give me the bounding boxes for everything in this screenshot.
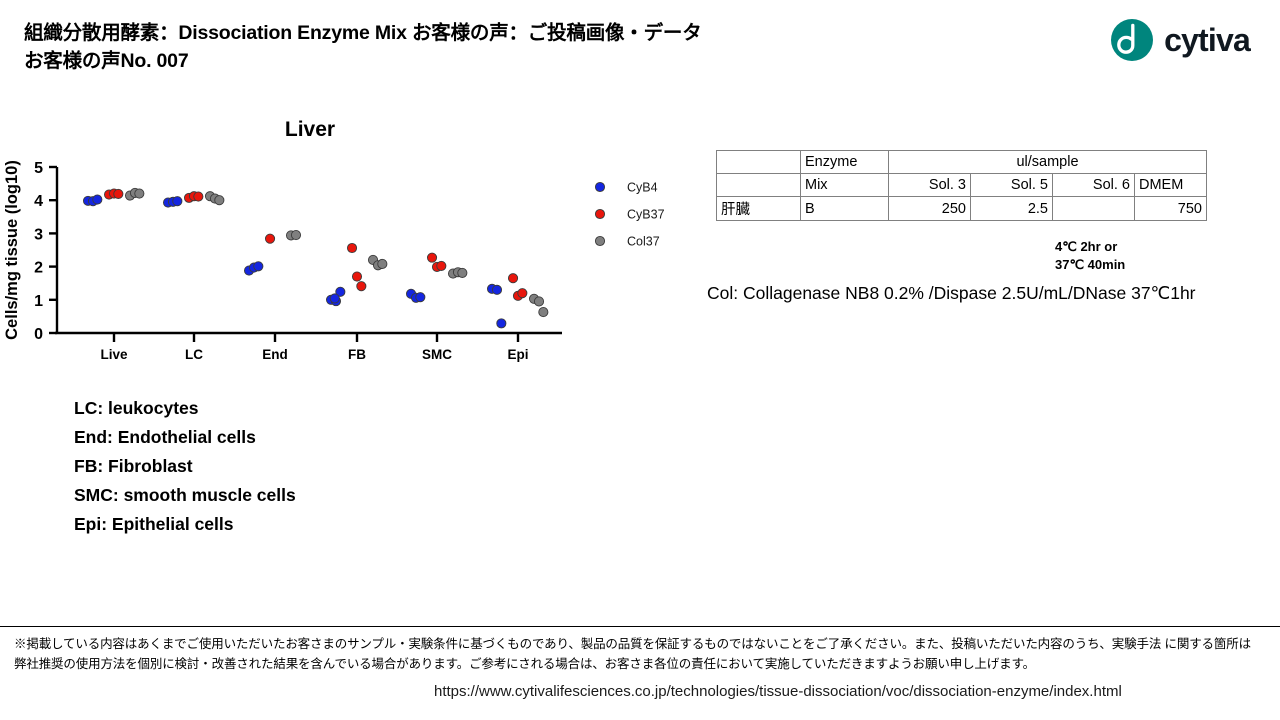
y-axis-title: Cells/mg tissue (log10) xyxy=(3,160,21,340)
data-point-CyB37-SMC xyxy=(427,253,436,262)
legend-marker-CyB37 xyxy=(595,209,604,218)
legend-label-CyB37: CyB37 xyxy=(627,208,665,222)
abbrev-item-fb: FB: Fibroblast xyxy=(74,452,296,481)
y-tick-label-4: 4 xyxy=(34,193,43,210)
cytiva-logo: cytiva xyxy=(1110,18,1250,62)
page-title: 組織分散用酵素：Dissociation Enzyme Mix お客様の声：ご投… xyxy=(24,20,924,75)
data-point-CyB37-FB xyxy=(352,272,361,281)
collagenase-note: Col: Collagenase NB8 0.2% /Dispase 2.5U/… xyxy=(707,283,1196,304)
data-point-CyB4-End xyxy=(254,262,263,271)
incubation-note-line1: 4℃ 2hr or xyxy=(1055,238,1125,256)
data-point-CyB4-FB xyxy=(330,294,339,303)
cell-sol5: 2.5 xyxy=(971,197,1053,221)
data-point-CyB37-LC xyxy=(194,192,203,201)
y-tick-label-1: 1 xyxy=(34,293,43,310)
legend-marker-CyB4 xyxy=(595,182,604,191)
data-point-CyB37-Epi xyxy=(508,274,517,283)
x-tick-label-SMC: SMC xyxy=(422,347,452,362)
header-sol3: Sol. 3 xyxy=(889,174,971,197)
data-point-CyB4-LC xyxy=(173,197,182,206)
data-point-CyB4-Live xyxy=(93,195,102,204)
abbrev-item-epi: Epi: Epithelial cells xyxy=(74,510,296,539)
data-point-Col37-Epi xyxy=(539,307,548,316)
data-point-CyB37-Live xyxy=(114,189,123,198)
data-point-CyB4-Epi xyxy=(497,319,506,328)
abbrev-item-end: End: Endothelial cells xyxy=(74,423,296,452)
x-tick-label-End: End xyxy=(262,347,288,362)
page-title-line1: 組織分散用酵素：Dissociation Enzyme Mix お客様の声：ご投… xyxy=(24,22,702,44)
x-tick-label-FB: FB xyxy=(348,347,366,362)
legend-label-Col37: Col37 xyxy=(627,235,660,249)
data-point-Col37-End xyxy=(291,230,300,239)
data-point-CyB37-SMC xyxy=(437,261,446,270)
cytiva-droplet-icon xyxy=(1110,18,1154,62)
header-mix: Mix xyxy=(801,174,889,197)
protocol-table: Enzyme ul/sample Mix Sol. 3 Sol. 5 Sol. … xyxy=(716,150,1207,221)
cell-sol6 xyxy=(1053,197,1135,221)
slide-root: 組織分散用酵素：Dissociation Enzyme Mix お客様の声：ご投… xyxy=(0,0,1280,720)
footer-divider xyxy=(0,626,1280,627)
data-point-Col37-FB xyxy=(378,259,387,268)
chart-panel: Liver 012345Cells/mg tissue (log10)LiveL… xyxy=(0,118,700,373)
header-sol6: Sol. 6 xyxy=(1053,174,1135,197)
data-point-Col37-Epi xyxy=(534,297,543,306)
cell-sol3: 250 xyxy=(889,197,971,221)
header-sol5: Sol. 5 xyxy=(971,174,1053,197)
y-tick-label-2: 2 xyxy=(34,260,43,277)
legend-marker-Col37 xyxy=(595,236,604,245)
x-tick-label-LC: LC xyxy=(185,347,203,362)
data-point-CyB37-FB xyxy=(357,282,366,291)
y-tick-label-0: 0 xyxy=(34,326,43,343)
data-point-Col37-LC xyxy=(215,196,224,205)
data-point-Col37-Live xyxy=(135,189,144,198)
data-point-CyB37-Epi xyxy=(518,289,527,298)
header-organ-blank xyxy=(717,151,801,174)
cytiva-wordmark: cytiva xyxy=(1164,24,1250,56)
abbreviation-list: LC: leukocytes End: Endothelial cells FB… xyxy=(74,394,296,539)
y-tick-label-3: 3 xyxy=(34,226,43,243)
data-point-CyB4-SMC xyxy=(416,293,425,302)
header-organ-blank-2 xyxy=(717,174,801,197)
disclaimer-line2: 弊社推奨の使用方法を個別に検討・改善された結果を含んでいる場合があります。ご参考… xyxy=(14,654,1270,674)
cell-dmem: 750 xyxy=(1135,197,1207,221)
cell-mix: B xyxy=(801,197,889,221)
table-row: 肝臓 B 250 2.5 750 xyxy=(717,197,1207,221)
source-url-link[interactable]: https://www.cytivalifesciences.co.jp/tec… xyxy=(434,683,1122,700)
abbrev-item-smc: SMC: smooth muscle cells xyxy=(74,481,296,510)
page-title-line2: お客様の声No. 007 xyxy=(24,48,924,76)
scatter-chart: 012345Cells/mg tissue (log10)LiveLCEndFB… xyxy=(0,136,700,376)
header-dmem: DMEM xyxy=(1135,174,1207,197)
table-header-row-1: Enzyme ul/sample xyxy=(717,151,1207,174)
legend-label-CyB4: CyB4 xyxy=(627,181,658,195)
abbrev-item-lc: LC: leukocytes xyxy=(74,394,296,423)
incubation-note: 4℃ 2hr or 37℃ 40min xyxy=(1055,238,1125,273)
header-ul-sample: ul/sample xyxy=(889,151,1207,174)
header-enzyme: Enzyme xyxy=(801,151,889,174)
disclaimer-text: ※掲載している内容はあくまでご使用いただいたお客さまのサンプル・実験条件に基づく… xyxy=(14,634,1270,674)
cell-organ: 肝臓 xyxy=(717,197,801,221)
y-tick-label-5: 5 xyxy=(34,160,43,177)
data-point-CyB37-FB xyxy=(347,243,356,252)
x-tick-label-Epi: Epi xyxy=(507,347,528,362)
data-point-CyB37-End xyxy=(265,234,274,243)
incubation-note-line2: 37℃ 40min xyxy=(1055,256,1125,274)
data-point-Col37-SMC xyxy=(458,268,467,277)
table-header-row-2: Mix Sol. 3 Sol. 5 Sol. 6 DMEM xyxy=(717,174,1207,197)
x-tick-label-Live: Live xyxy=(100,347,128,362)
data-point-CyB4-Epi xyxy=(492,285,501,294)
disclaimer-line1: ※掲載している内容はあくまでご使用いただいたお客さまのサンプル・実験条件に基づく… xyxy=(14,634,1270,654)
